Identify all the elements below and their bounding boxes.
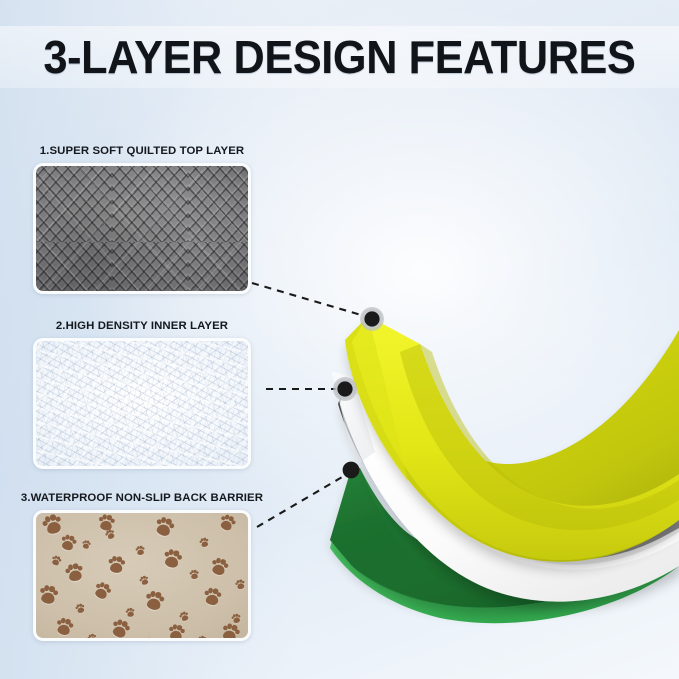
paw-print-icon (135, 545, 146, 555)
paw-print-icon (198, 537, 209, 548)
paw-print-icon (219, 621, 242, 638)
leader-line-1 (252, 283, 368, 317)
paw-print-icon (81, 540, 91, 550)
feature-thumbnail-1[interactable] (33, 163, 251, 294)
paw-print-icon (106, 555, 125, 573)
feature-block-3: 3.WATERPROOF NON-SLIP BACK BARRIER (33, 492, 251, 641)
paw-print-icon (125, 607, 136, 617)
paw-print-icon (189, 570, 199, 580)
paw-print-icon (58, 533, 78, 552)
paw-print-icon (40, 513, 65, 537)
paw-print-icon (138, 575, 150, 586)
paw-print-icon (91, 580, 113, 601)
paw-print-icon (234, 579, 246, 590)
paw-print-icon (74, 603, 86, 614)
marker-top-layer (360, 307, 384, 331)
marker-bottom-layer (343, 462, 360, 479)
paw-print-icon (161, 548, 184, 570)
quilted-grey-fabric-swatch (36, 166, 248, 291)
paw-print-icon (53, 616, 74, 636)
paw-print-icon (104, 528, 116, 540)
middle-layer-white (338, 384, 679, 602)
paw-print-icon (50, 554, 63, 566)
feature-label-1: 1.SUPER SOFT QUILTED TOP LAYER (13, 145, 271, 157)
paw-print-icon (166, 623, 185, 638)
page-title: 3-LAYER DESIGN FEATURES (20, 30, 658, 84)
paw-print-icon (230, 613, 241, 624)
beige-paw-print-backing-swatch (36, 513, 248, 638)
paw-print-icon (152, 515, 176, 538)
product-infographic: 3-LAYER DESIGN FEATURES 1.SUPER SOFT QUI… (0, 0, 679, 679)
paw-print-icon (143, 590, 166, 612)
paw-print-icon (208, 556, 229, 577)
feature-thumbnail-3[interactable] (33, 510, 251, 641)
feature-label-3: 3.WATERPROOF NON-SLIP BACK BARRIER (13, 492, 271, 504)
paw-print-icon (63, 562, 85, 583)
paw-print-icon (178, 611, 190, 623)
paw-print-icon (108, 617, 131, 638)
bottom-layer-green (330, 466, 679, 623)
paw-print-icon (202, 587, 222, 606)
paw-print-icon (143, 637, 154, 638)
clear-tab-middle (332, 372, 375, 466)
paw-print-icon (37, 584, 59, 605)
top-layer-yellow (345, 316, 679, 562)
marker-middle-layer (333, 377, 357, 401)
paw-print-icon (217, 513, 237, 532)
feature-block-1: 1.SUPER SOFT QUILTED TOP LAYER (33, 145, 251, 294)
feature-label-2: 2.HIGH DENSITY INNER LAYER (13, 320, 271, 332)
white-fiber-fill-swatch (36, 341, 248, 466)
paw-print-icon (86, 633, 98, 638)
layer-markers (333, 307, 384, 478)
feature-thumbnail-2[interactable] (33, 338, 251, 469)
paw-print-icon (196, 635, 207, 638)
feature-block-2: 2.HIGH DENSITY INNER LAYER (33, 320, 251, 469)
